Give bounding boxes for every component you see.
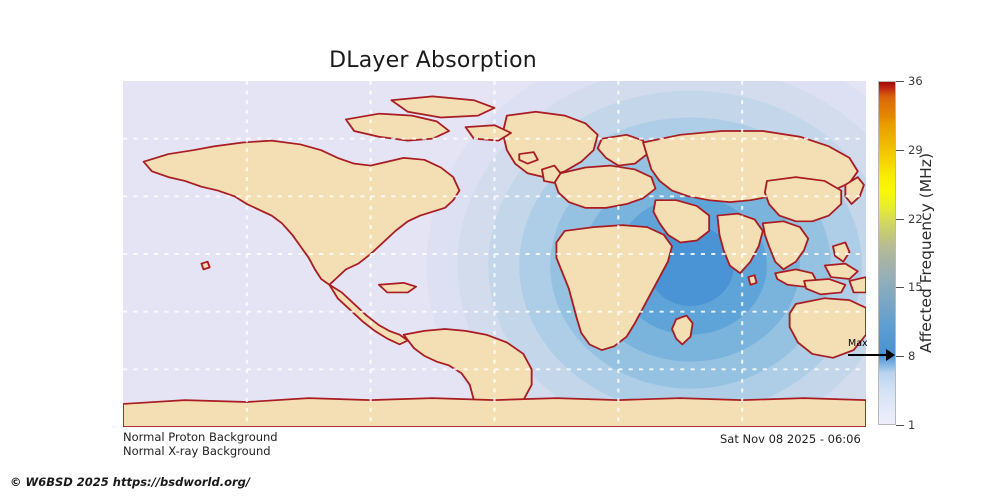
cb-tick-label-1: 1 [908, 418, 915, 432]
max-marker-arrow-head-icon [886, 349, 895, 361]
max-marker: Max [845, 338, 897, 364]
cb-tick-mark [896, 425, 904, 426]
colorbar-axis-title-text: Affected Frequency (MHz) [917, 153, 935, 353]
colorbar-gradient [879, 82, 895, 424]
cb-tick-label-8: 8 [908, 349, 915, 363]
colorbar-axis-title: Affected Frequency (MHz) [916, 81, 936, 425]
timestamp-label: Sat Nov 08 2025 - 06:06 [720, 432, 861, 446]
colorbar[interactable] [878, 81, 896, 425]
max-marker-label: Max [848, 338, 868, 349]
max-marker-arrow-shaft [848, 354, 888, 356]
graticule-layer [123, 81, 866, 427]
cb-tick-mark [896, 81, 904, 82]
cb-tick-mark [896, 287, 904, 288]
cb-tick-mark [896, 356, 904, 357]
figure-root: DLayer Absorption [0, 0, 1000, 500]
xray-background-status: Normal X-ray Background [123, 444, 271, 458]
cb-tick-mark [896, 150, 904, 151]
page-title: DLayer Absorption [0, 48, 866, 73]
credit-footer: © W6BSD 2025 https://bsdworld.org/ [10, 475, 250, 489]
map-canvas[interactable] [123, 81, 866, 427]
cb-tick-mark [896, 219, 904, 220]
proton-background-status: Normal Proton Background [123, 430, 278, 444]
